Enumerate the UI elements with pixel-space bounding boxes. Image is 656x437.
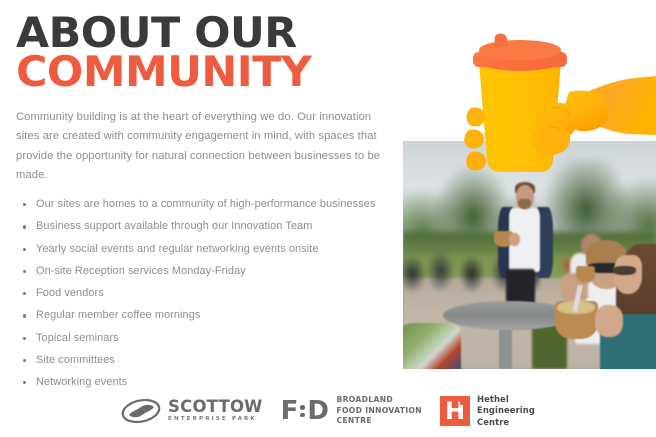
- heading-line-2: COMMUNITY: [16, 52, 404, 91]
- hethel-line-2: Engineering: [477, 405, 535, 416]
- list-item: Topical seminars: [36, 332, 408, 346]
- content-column: ABOUT OUR COMMUNITY Community building i…: [0, 0, 404, 380]
- fid-letter-d: D: [307, 396, 328, 426]
- list-item: Our sites are homes to a community of hi…: [36, 198, 408, 212]
- logo-broadland-food-innovation-centre[interactable]: F D BROADLAND FOOD INNOVATION CENTRE: [281, 395, 422, 426]
- fid-letter-f: F: [281, 396, 298, 426]
- hethel-wordmark: Hethel Engineering Centre: [477, 394, 535, 428]
- benefits-list: Our sites are homes to a community of hi…: [16, 198, 408, 398]
- fid-wordmark: BROADLAND FOOD INNOVATION CENTRE: [336, 395, 422, 426]
- scottow-name: SCOTTOW: [168, 399, 263, 416]
- hethel-line-1: Hethel: [477, 394, 535, 405]
- logo-scottow-enterprise-park[interactable]: SCOTTOW ENTERPRISE PARK: [121, 398, 263, 424]
- list-item: Yearly social events and regular network…: [36, 243, 408, 257]
- list-item: Business support available through our I…: [36, 220, 408, 234]
- logo-hethel-engineering-centre[interactable]: H Hethel Engineering Centre: [440, 394, 535, 428]
- fid-line-1: BROADLAND: [336, 395, 422, 405]
- slide-about-our-community: ABOUT OUR COMMUNITY Community building i…: [0, 0, 656, 437]
- page-title: ABOUT OUR COMMUNITY: [16, 13, 396, 91]
- media-column: [403, 0, 656, 369]
- fid-line-2: FOOD INNOVATION: [336, 406, 422, 416]
- hand-holding-coffee-cup-image: [403, 0, 656, 175]
- fid-colon-dots-icon: [300, 405, 305, 417]
- hethel-h-icon: H: [440, 396, 470, 426]
- people-eating-outdoors-photo: [403, 141, 656, 369]
- list-item: Regular member coffee mornings: [36, 309, 408, 323]
- fid-monogram-icon: F D: [281, 396, 329, 426]
- intro-paragraph: Community building is at the heart of ev…: [16, 108, 384, 185]
- partner-logos-footer: SCOTTOW ENTERPRISE PARK F D BROADLAND FO…: [0, 385, 656, 437]
- hethel-line-3: Centre: [477, 417, 535, 428]
- list-item: Food vendors: [36, 287, 408, 301]
- list-item: On-site Reception services Monday-Friday: [36, 265, 408, 279]
- hethel-dot-icon: [460, 401, 465, 406]
- scottow-swoosh-icon: [121, 398, 161, 424]
- list-item: Site committees: [36, 354, 408, 368]
- scottow-subtitle: ENTERPRISE PARK: [168, 417, 263, 423]
- fid-line-3: CENTRE: [336, 416, 422, 426]
